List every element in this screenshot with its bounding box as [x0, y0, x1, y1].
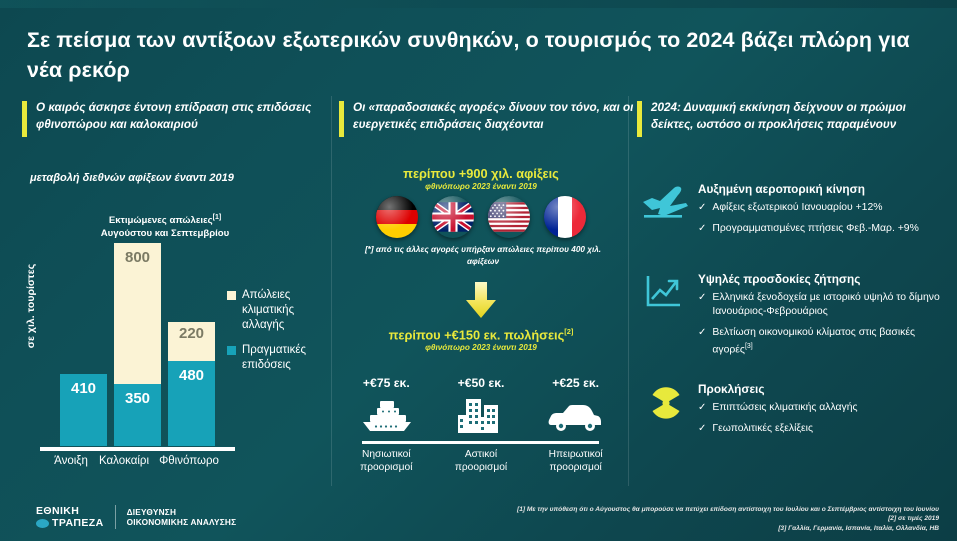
footnote-1: [1] Με την υπόθεση ότι ο Αύγουστος θα μπ… [517, 505, 939, 515]
city-buildings-icon [456, 395, 506, 438]
flag-row [339, 196, 623, 238]
destination-value-urban: +€50 εκ. [458, 376, 505, 390]
logo-line-2: ΤΡΑΠΕΖΑ [52, 517, 104, 529]
legend-label-actual-l1: Πραγματικές [242, 344, 306, 356]
sales-headline: περίπου +€150 εκ. πωλήσεις[2] [339, 327, 623, 342]
logo-mark: ΕΘΝΙΚΗ ΤΡΑΠΕΖΑ [36, 505, 104, 529]
check-icon: ✓ [698, 326, 706, 340]
destination-label-urban: Αστικοί προορισμοί [439, 448, 523, 474]
bar-segment-actual-spring: 410 [60, 374, 107, 446]
logo-line-1: ΕΘΝΙΚΗ [36, 505, 104, 517]
chart-x-axis [40, 447, 235, 451]
legend-label-losses-l2: κλιματικής [242, 304, 294, 316]
destination-value-island: +€75 εκ. [363, 376, 410, 390]
arrivals-subtitle: φθινόπωρο 2023 έναντι 2019 [339, 182, 623, 191]
logo-department-line-1: ΔΙΕΥΘΥΝΣΗ [127, 507, 237, 518]
bar-value-loss-autumn: 220 [168, 325, 215, 342]
footnote-3: [3] Γαλλία, Γερμανία, Ισπανία, Ιταλία, Ο… [517, 524, 939, 534]
right-block-air-traffic: Αυξημένη αεροπορική κίνηση ✓ Αφίξεις εξω… [640, 182, 950, 243]
column-heading-outlook: 2024: Δυναμική εκκίνηση δείχνουν οι πρώι… [637, 100, 942, 133]
right-block-item-air-1: ✓ Αφίξεις εξωτερικού Ιανουαρίου +12% [698, 201, 950, 215]
bar-segment-actual-autumn: 480 [168, 361, 215, 446]
destination-label-island-l2: προορισμοί [360, 462, 412, 473]
right-block-item-demand-2: ✓ Βελτίωση οικονομικού κλίματος στις βασ… [698, 326, 950, 357]
column-divider-1 [331, 96, 332, 486]
destination-label-mainland-l1: Ηπειρωτικοί [549, 449, 603, 460]
bar-segment-actual-summer: 350 [114, 384, 161, 446]
sales-headline-text: περίπου +€150 εκ. πωλήσεις [389, 327, 565, 342]
right-block-title-air: Αυξημένη αεροπορική κίνηση [698, 182, 950, 196]
check-icon: ✓ [698, 422, 706, 436]
right-block-item-demand-2-main: Βελτίωση οικονομικού κλίματος στις βασικ… [712, 327, 915, 355]
chart-annotation: Εκτιμώμενες απώλειες[1] Αυγούστου και Σε… [80, 212, 250, 240]
france-flag-icon [544, 196, 586, 238]
bar-chart-plot-area: 410 800 350 220 480 [40, 248, 235, 451]
x-tick-autumn: Φθινόπωρο [148, 455, 230, 467]
bar-segment-loss-autumn: 220 [168, 322, 215, 361]
bar-group-autumn: 220 480 [168, 322, 215, 446]
bar-group-spring: 410 [60, 374, 107, 446]
chart-subtitle: μεταβολή διεθνών αφίξεων έναντι 2019 [30, 172, 234, 184]
usa-flag-icon [488, 196, 530, 238]
legend-label-losses: Απώλειες κλιματικής αλλαγής [242, 288, 330, 333]
column-heading-markets: Οι «παραδοσιακές αγορές» δίνουν τον τόνο… [339, 100, 639, 133]
right-block-title-demand: Υψηλές προσδοκίες ζήτησης [698, 272, 950, 286]
check-icon: ✓ [698, 401, 706, 415]
logo-dot-icon [36, 519, 49, 528]
arrivals-headline: περίπου +900 χιλ. αφίξεις [339, 166, 623, 181]
destination-icons-row [339, 396, 623, 438]
right-block-item-challenge-1: ✓ Επιπτώσεις κλιματικής αλλαγής [698, 401, 950, 415]
column-divider-2 [628, 96, 629, 486]
legend-swatch-actual [227, 346, 236, 355]
bar-value-actual-spring: 410 [60, 380, 107, 397]
destination-label-island-l1: Νησιωτικοί [362, 449, 411, 460]
logo-department: ΔΙΕΥΘΥΝΣΗ ΟΙΚΟΝΟΜΙΚΗΣ ΑΝΑΛΥΣΗΣ [127, 507, 237, 528]
right-block-item-air-2-text: Προγραμματισμένες πτήσεις Φεβ.-Μαρ. +9% [712, 222, 918, 236]
chart-legend: Απώλειες κλιματικής αλλαγής Πραγματικές … [227, 288, 330, 383]
right-block-item-air-1-text: Αφίξεις εξωτερικού Ιανουαρίου +12% [712, 201, 882, 215]
legend-label-losses-l3: αλλαγής [242, 319, 284, 331]
bar-value-actual-autumn: 480 [168, 367, 215, 384]
right-block-body-air: Αυξημένη αεροπορική κίνηση ✓ Αφίξεις εξω… [698, 182, 950, 236]
chart-annotation-line1: Εκτιμώμενες απώλειες [109, 215, 213, 226]
check-icon: ✓ [698, 201, 706, 215]
destination-label-mainland: Ηπειρωτικοί προορισμοί [534, 448, 618, 474]
right-block-title-challenges: Προκλήσεις [698, 382, 950, 396]
car-icon [547, 403, 603, 438]
legend-swatch-losses [227, 291, 236, 300]
check-icon: ✓ [698, 291, 706, 305]
arrivals-footnote: [*] από τις άλλες αγορές υπήρξαν απώλειε… [359, 244, 607, 268]
logo-department-line-2: ΟΙΚΟΝΟΜΙΚΗΣ ΑΝΑΛΥΣΗΣ [127, 517, 237, 528]
growth-chart-icon [640, 272, 692, 314]
logo-separator [115, 505, 116, 529]
destination-label-urban-l1: Αστικοί [465, 449, 497, 460]
legend-label-losses-l1: Απώλειες [242, 289, 290, 301]
destination-value-mainland: +€25 εκ. [552, 376, 599, 390]
legend-label-actual: Πραγματικές επιδόσεις [242, 343, 330, 373]
infographic-poster: Σε πείσμα των αντίξοων εξωτερικών συνθηκ… [0, 0, 957, 541]
right-block-item-challenge-1-text: Επιπτώσεις κλιματικής αλλαγής [712, 401, 857, 415]
check-icon: ✓ [698, 222, 706, 236]
destination-axis-line [362, 441, 599, 444]
right-block-demand: Υψηλές προσδοκίες ζήτησης ✓ Ελληνικά ξεν… [640, 272, 950, 364]
chart-annotation-line2: Αυγούστου και Σεπτεμβρίου [101, 228, 230, 239]
right-block-item-demand-2-text: Βελτίωση οικονομικού κλίματος στις βασικ… [712, 326, 950, 357]
destination-labels-row: Νησιωτικοί προορισμοί Αστικοί προορισμοί… [339, 448, 623, 474]
bar-value-actual-summer: 350 [114, 390, 161, 407]
bar-value-loss-summer: 800 [114, 249, 161, 266]
airplane-icon [640, 182, 692, 224]
footnotes: [1] Με την υπόθεση ότι ο Αύγουστος θα μπ… [517, 505, 939, 534]
destination-label-mainland-l2: προορισμοί [549, 462, 601, 473]
right-block-item-air-2: ✓ Προγραμματισμένες πτήσεις Φεβ.-Μαρ. +9… [698, 222, 950, 236]
legend-item-losses: Απώλειες κλιματικής αλλαγής [227, 288, 330, 333]
bank-logo: ΕΘΝΙΚΗ ΤΡΑΠΕΖΑ ΔΙΕΥΘΥΝΣΗ ΟΙΚΟΝΟΜΙΚΗΣ ΑΝΑ… [36, 505, 236, 529]
page-title: Σε πείσμα των αντίξοων εξωτερικών συνθηκ… [27, 25, 927, 85]
legend-label-actual-l2: επιδόσεις [242, 359, 291, 371]
logo-line-2-row: ΤΡΑΠΕΖΑ [36, 517, 104, 529]
cruise-ship-icon [359, 399, 415, 438]
column-heading-weather: Ο καιρός άσκησε έντονη επίδραση στις επι… [22, 100, 322, 133]
chart-y-axis-label: σε χιλ. τουρίστες [25, 251, 37, 361]
right-block-item-demand-1-text: Ελληνικά ξενοδοχεία με ιστορικό υψηλό το… [712, 291, 950, 319]
sales-subtitle: φθινόπωρο 2023 έναντι 2019 [339, 343, 623, 352]
sales-headline-footnote-ref: [2] [564, 327, 573, 336]
destination-values-row: +€75 εκ. +€50 εκ. +€25 εκ. [339, 376, 623, 390]
right-block-item-demand-2-footnote-ref: [3] [745, 343, 753, 350]
destination-label-urban-l2: προορισμοί [455, 462, 507, 473]
germany-flag-icon [376, 196, 418, 238]
right-block-item-demand-1: ✓ Ελληνικά ξενοδοχεία με ιστορικό υψηλό … [698, 291, 950, 319]
uk-flag-icon [432, 196, 474, 238]
legend-item-actual: Πραγματικές επιδόσεις [227, 343, 330, 373]
right-block-body-challenges: Προκλήσεις ✓ Επιπτώσεις κλιματικής αλλαγ… [698, 382, 950, 436]
bar-segment-loss-summer: 800 [114, 243, 161, 384]
right-block-item-challenge-2-text: Γεωπολιτικές εξελίξεις [712, 422, 813, 436]
destination-label-island: Νησιωτικοί προορισμοί [344, 448, 428, 474]
right-block-body-demand: Υψηλές προσδοκίες ζήτησης ✓ Ελληνικά ξεν… [698, 272, 950, 357]
footnote-2: [2] σε τιμές 2019 [517, 514, 939, 524]
chart-annotation-footnote-ref: [1] [213, 214, 222, 221]
right-block-item-challenge-2: ✓ Γεωπολιτικές εξελίξεις [698, 422, 950, 436]
radiation-hazard-icon [640, 382, 692, 424]
right-block-challenges: Προκλήσεις ✓ Επιπτώσεις κλιματικής αλλαγ… [640, 382, 950, 443]
arrow-down-icon [466, 282, 496, 318]
bar-group-summer: 800 350 [114, 243, 161, 446]
